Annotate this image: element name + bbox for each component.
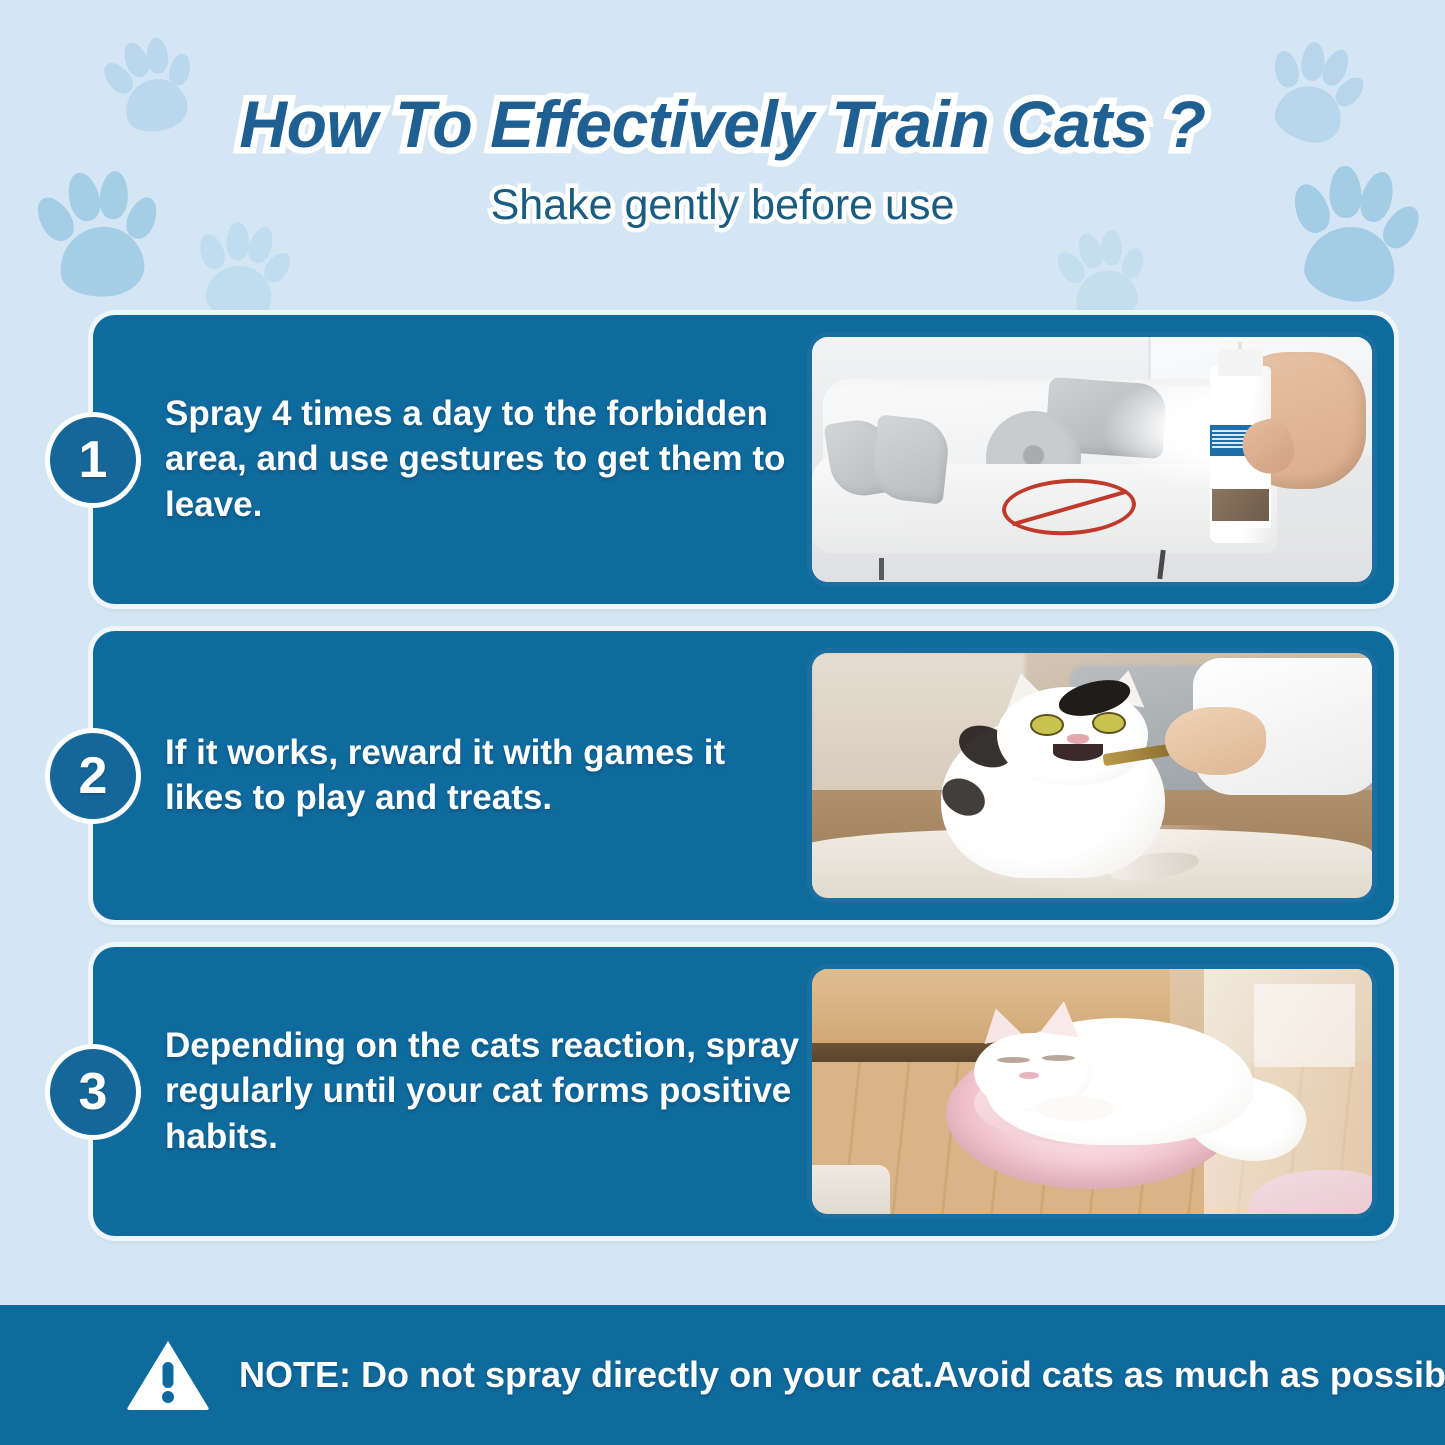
- page-title: How To Effectively Train Cats ?: [0, 86, 1445, 162]
- step-description: If it works, reward it with games it lik…: [165, 730, 805, 822]
- step-photo-cat-treat: [812, 653, 1372, 898]
- step-number-badge: 2: [45, 728, 141, 824]
- page-subtitle: Shake gently before use: [0, 181, 1445, 230]
- note-bar: NOTE: Do not spray directly on your cat.…: [0, 1305, 1445, 1445]
- step-description: Spray 4 times a day to the forbidden are…: [165, 391, 805, 529]
- note-text: NOTE: Do not spray directly on your cat.…: [239, 1354, 1445, 1396]
- step-description: Depending on the cats reaction, spray re…: [165, 1023, 805, 1161]
- step-number-badge: 1: [45, 412, 141, 508]
- step-photo-spray-sofa: [812, 337, 1372, 582]
- step-card-3[interactable]: 3 Depending on the cats reaction, spray …: [93, 947, 1394, 1236]
- step-card-1[interactable]: 1 Spray 4 times a day to the forbidden a…: [93, 315, 1394, 604]
- step-photo-cat-bed: [812, 969, 1372, 1214]
- step-number-badge: 3: [45, 1044, 141, 1140]
- step-card-2[interactable]: 2 If it works, reward it with games it l…: [93, 631, 1394, 920]
- header: How To Effectively Train Cats ? Shake ge…: [0, 0, 1445, 300]
- infographic-page: How To Effectively Train Cats ? Shake ge…: [0, 0, 1445, 1445]
- warning-triangle-icon: [125, 1338, 211, 1412]
